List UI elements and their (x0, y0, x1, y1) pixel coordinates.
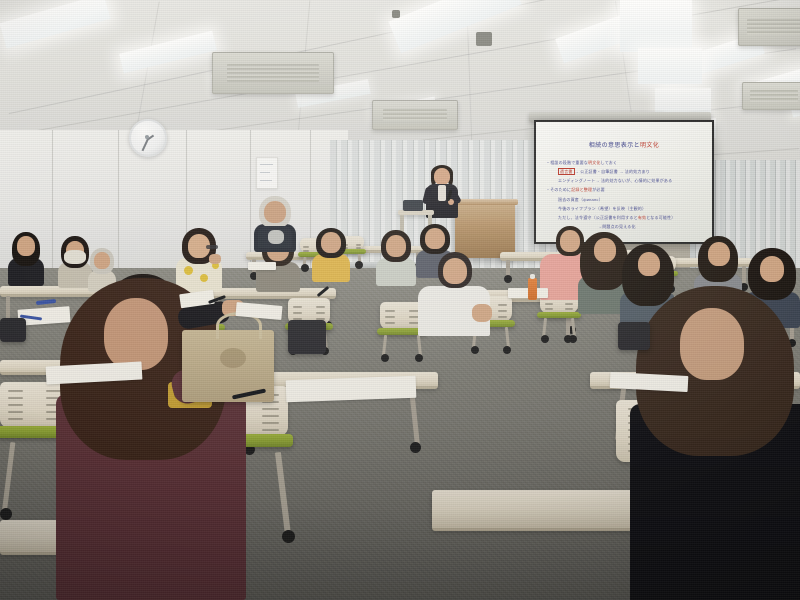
handout-papers (46, 362, 143, 385)
props-layer (0, 0, 800, 600)
pen (317, 286, 330, 297)
bag-on-floor (0, 318, 26, 342)
bottle-cap (530, 274, 535, 279)
bag-stain (220, 348, 246, 368)
handout-papers (179, 290, 215, 309)
drink-bottle (528, 278, 537, 300)
handout-papers (286, 376, 417, 403)
pen (36, 299, 56, 305)
seminar-room-photo: 相続の意思表示と明文化 ・相談の段階で重要な明文化しておく遺言書→ 公正証書・自… (0, 0, 800, 600)
bag-on-floor (618, 322, 650, 350)
handout-papers (610, 372, 689, 392)
handout-papers (248, 262, 276, 270)
bag-on-floor (288, 320, 326, 354)
